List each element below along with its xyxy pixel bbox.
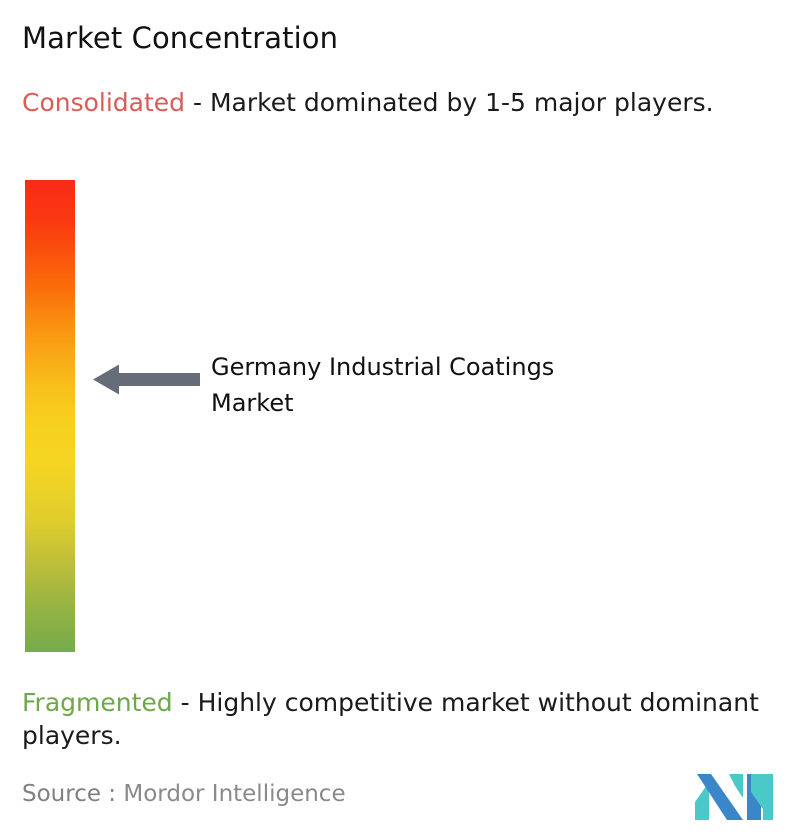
- concentration-gradient-bar: [25, 180, 75, 652]
- legend-fragmented-key: Fragmented: [22, 688, 173, 717]
- mordor-intelligence-logo: [695, 768, 773, 820]
- market-concentration-infographic: Market Concentration Consolidated - Mark…: [0, 0, 796, 834]
- legend-consolidated-key: Consolidated: [22, 88, 185, 117]
- callout-label: Germany Industrial Coatings Market: [211, 349, 571, 421]
- legend-fragmented-separator: -: [173, 688, 198, 717]
- legend-fragmented: Fragmented - Highly competitive market w…: [22, 686, 782, 752]
- legend-consolidated-description: Market dominated by 1-5 major players.: [210, 88, 714, 117]
- legend-consolidated: Consolidated - Market dominated by 1-5 m…: [22, 86, 782, 119]
- source-value: Mordor Intelligence: [123, 781, 345, 807]
- page-title: Market Concentration: [22, 20, 338, 56]
- arrow-left-icon: [93, 364, 200, 395]
- source-attribution: Source : Mordor Intelligence: [22, 779, 346, 809]
- source-label: Source :: [22, 781, 116, 807]
- legend-consolidated-separator: -: [185, 88, 210, 117]
